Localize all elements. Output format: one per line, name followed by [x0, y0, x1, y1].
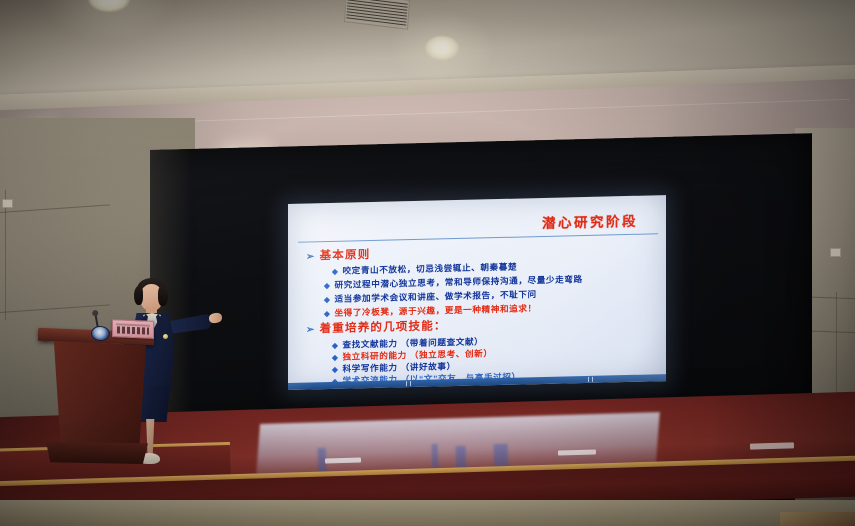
- slide-canvas: 潜心研究阶段 ➢基本原则 ◆咬定青山不放松，切忌浅尝辄止、朝秦暮楚 ◆研究过程中…: [288, 195, 666, 390]
- arrow-marker-icon: ➢: [306, 251, 316, 262]
- diamond-bullet-icon: ◆: [324, 281, 330, 290]
- left-wall-seam-vertical: [5, 190, 6, 320]
- slide-title: 潜心研究阶段: [542, 210, 638, 232]
- podium-body: [50, 341, 146, 449]
- podium-base: [44, 442, 148, 464]
- slide-title-divider: [298, 233, 658, 242]
- slide-bullet-1-4: ◆坐得了冷板凳，源于兴趣，更是一种精神和追求！: [324, 302, 537, 319]
- diamond-bullet-icon: ◆: [324, 309, 330, 318]
- bullet-text: 适当参加学术会议和讲座、做学术报告，不耻下问: [334, 289, 536, 304]
- presenter-hair-right: [158, 286, 168, 306]
- diamond-bullet-icon: ◆: [332, 341, 338, 350]
- bullet-text: 咬定青山不放松，切忌浅尝辄止、朝秦暮楚: [342, 262, 517, 276]
- diamond-bullet-icon: ◆: [332, 365, 338, 374]
- stage-marker-tape-1: [325, 457, 361, 463]
- diamond-bullet-icon: ◆: [332, 353, 338, 362]
- slide-section-heading-1: ➢基本原则: [306, 246, 370, 264]
- slide-section-heading-2: ➢着重培养的几项技能：: [306, 317, 447, 336]
- section-heading-text: 着重培养的几项技能：: [320, 320, 447, 335]
- wall-mounted-device-right: [830, 248, 841, 257]
- hall-floor: [0, 500, 855, 526]
- projected-slide: 潜心研究阶段 ➢基本原则 ◆咬定青山不放松，切忌浅尝辄止、朝秦暮楚 ◆研究过程中…: [288, 195, 666, 390]
- podium: [40, 330, 152, 468]
- bullet-text: 独立科研的能力 （独立思考、创新）: [342, 348, 492, 362]
- bullet-text: 研究过程中潜心独立思考，常和导师保持沟通，尽量少走弯路: [334, 274, 582, 290]
- wall-mounted-device-left: [2, 199, 13, 208]
- presenter-badge-pin: [163, 334, 168, 339]
- lecture-hall-scene: 潜心研究阶段 ➢基本原则 ◆咬定青山不放松，切忌浅尝辄止、朝秦暮楚 ◆研究过程中…: [0, 0, 855, 526]
- bullet-text: 坐得了冷板凳，源于兴趣，更是一种精神和追求！: [334, 303, 536, 318]
- floor-threshold-strip: [780, 512, 855, 526]
- diamond-bullet-icon: ◆: [324, 295, 330, 304]
- presenter-hair-left: [134, 286, 143, 305]
- placard-name-text: [117, 326, 149, 334]
- institution-emblem-icon: [91, 326, 110, 342]
- ceiling-downlight-2: [425, 36, 459, 60]
- diamond-bullet-icon: ◆: [332, 267, 338, 276]
- section-heading-text: 基本原则: [320, 249, 371, 262]
- name-placard: [112, 319, 154, 339]
- ceiling-downlight-1: [88, 0, 130, 12]
- arrow-marker-icon: ➢: [306, 324, 316, 335]
